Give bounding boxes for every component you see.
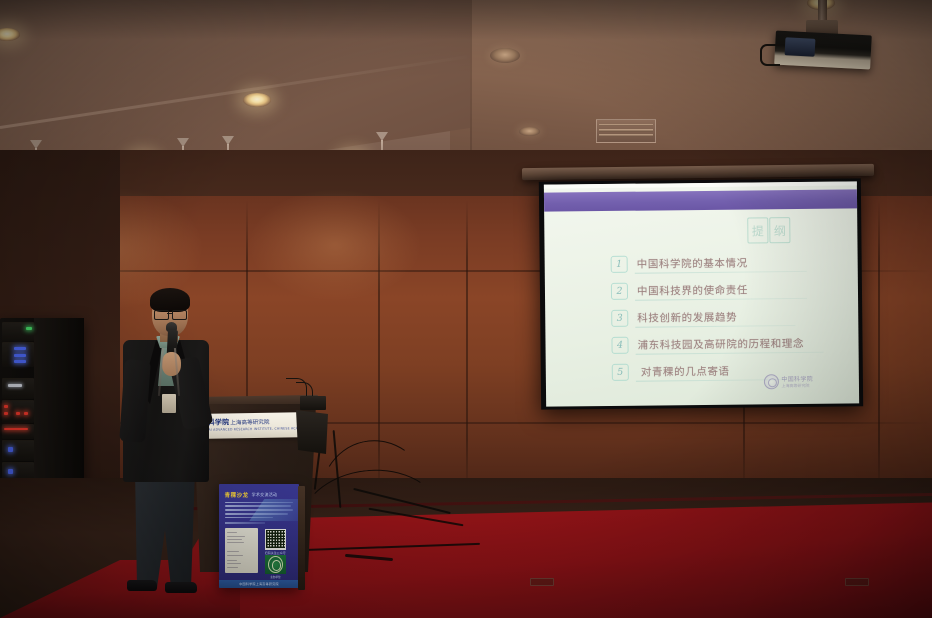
slide-title-char-2: 纲 bbox=[769, 217, 790, 243]
podium-sign: 中国科学院 上海高等研究院 SHANGHAI ADVANCED RESEARCH… bbox=[200, 412, 308, 439]
slide-row-text: 中国科学院的基本情况 bbox=[637, 256, 748, 272]
rack-led-blue-3 bbox=[14, 360, 26, 363]
rack-led-blue-1 bbox=[14, 347, 26, 350]
speaker-glasses-right bbox=[172, 310, 187, 320]
banner-stand bbox=[298, 486, 305, 590]
projector-bracket bbox=[760, 44, 780, 66]
conference-hall-photo: 提 纲 1 中国科学院的基本情况 2 中国科技界的使命责任 3 科技创新的发展趋… bbox=[0, 0, 932, 618]
downlight-6 bbox=[490, 48, 520, 63]
rack-led-blue-4 bbox=[8, 447, 13, 452]
speaker-hair bbox=[150, 288, 190, 312]
rack-unit-3 bbox=[2, 378, 34, 399]
rack-unit-5 bbox=[2, 424, 34, 439]
wall-light-glow-2 bbox=[250, 190, 420, 300]
slide-row: 4 浦东科技园及高研院的历程和理念 bbox=[611, 335, 804, 354]
floor-outlet-box-2 bbox=[845, 578, 869, 586]
speaker-badge bbox=[162, 394, 176, 413]
slide-row: 2 中国科技界的使命责任 bbox=[611, 281, 804, 300]
podium-sign-subtitle: SHANGHAI ADVANCED RESEARCH INSTITUTE, CH… bbox=[200, 427, 308, 433]
speaker-glasses-left bbox=[154, 310, 169, 320]
rack-led-red-2 bbox=[4, 412, 8, 415]
wall-panel-seam-v3 bbox=[466, 200, 468, 500]
slide-header-bar bbox=[544, 189, 857, 211]
slide-row-number: 5 bbox=[612, 364, 629, 381]
downlight-7 bbox=[519, 127, 540, 136]
rack-led-strip bbox=[4, 428, 28, 430]
slide-row: 3 科技创新的发展趋势 bbox=[611, 308, 804, 327]
projector-lens bbox=[785, 37, 816, 57]
speaker-glasses-bridge bbox=[167, 313, 172, 314]
organizer-emblem bbox=[265, 555, 287, 575]
slide-row-text: 对青稞的几点寄语 bbox=[641, 364, 730, 380]
rack-led-blue-2 bbox=[14, 354, 26, 357]
banner-footer-text: 中国科学院上海高等研究院 bbox=[239, 582, 279, 586]
slide-row-text: 中国科技界的使命责任 bbox=[637, 283, 748, 299]
rack-led-red-1 bbox=[4, 405, 8, 408]
rack-led-power bbox=[26, 327, 32, 330]
speaker-hand bbox=[162, 352, 181, 376]
rack-led-red-3 bbox=[16, 412, 20, 415]
slide-institute-logo: 中国科学院 上海高等研究院 bbox=[764, 374, 813, 390]
qr-code bbox=[265, 529, 287, 550]
slide-row-number: 2 bbox=[611, 283, 628, 300]
slide-row-number: 4 bbox=[611, 337, 628, 354]
slide-row-number: 3 bbox=[611, 310, 628, 327]
cas-emblem-icon bbox=[764, 374, 779, 389]
ceiling-seam bbox=[470, 0, 472, 150]
banner-heading-highlight: 青稞沙龙 bbox=[225, 491, 249, 499]
wall-panel-seam-v5 bbox=[878, 200, 880, 500]
slide-row-text: 科技创新的发展趋势 bbox=[637, 310, 737, 326]
banner-heading-rest: 学术交流活动 bbox=[252, 492, 278, 498]
banner-info-card bbox=[225, 528, 259, 574]
banner-heading: 青稞沙龙 学术交流活动 bbox=[225, 491, 278, 499]
slide-outline-list: 1 中国科学院的基本情况 2 中国科技界的使命责任 3 科技创新的发展趋势 4 … bbox=[611, 254, 805, 381]
rack-led-display bbox=[8, 384, 22, 387]
ceiling-right-plane bbox=[450, 0, 932, 175]
organizer-caption: 主办单位 bbox=[265, 575, 287, 579]
slide-logo-name: 中国科学院 bbox=[781, 374, 813, 383]
speaker-shoe-right bbox=[165, 582, 197, 593]
slide-title-char-1: 提 bbox=[747, 217, 768, 243]
podium-equipment-box bbox=[296, 410, 328, 454]
rollup-banner: 青稞沙龙 学术交流活动 扫码关注公众号 主办单位 中国科学院上海高等研究院 bbox=[219, 484, 299, 588]
downlight-2 bbox=[243, 93, 271, 107]
microphone-base bbox=[300, 396, 326, 410]
projection-screen: 提 纲 1 中国科学院的基本情况 2 中国科技界的使命责任 3 科技创新的发展趋… bbox=[544, 181, 859, 406]
hvac-vent bbox=[596, 119, 656, 143]
rack-unit-7 bbox=[2, 440, 34, 461]
slide-row: 1 中国科学院的基本情况 bbox=[611, 254, 804, 273]
slide-logo-sub: 上海高等研究院 bbox=[781, 383, 813, 389]
podium-sign-text: 中国科学院 上海高等研究院 SHANGHAI ADVANCED RESEARCH… bbox=[200, 418, 308, 433]
slide-row-text: 浦东科技园及高研院的历程和理念 bbox=[637, 336, 804, 353]
banner-footer: 中国科学院上海高等研究院 bbox=[219, 580, 299, 588]
speaker-shoe-left bbox=[127, 580, 157, 591]
rack-led-red-4 bbox=[24, 412, 28, 415]
rack-unit-1 bbox=[2, 322, 34, 341]
banner-body-text bbox=[225, 502, 294, 521]
banner-section-label bbox=[225, 522, 265, 524]
floor-outlet-box bbox=[530, 578, 554, 586]
slide-row-number: 1 bbox=[611, 256, 628, 273]
rack-led-blue-5 bbox=[8, 469, 13, 474]
